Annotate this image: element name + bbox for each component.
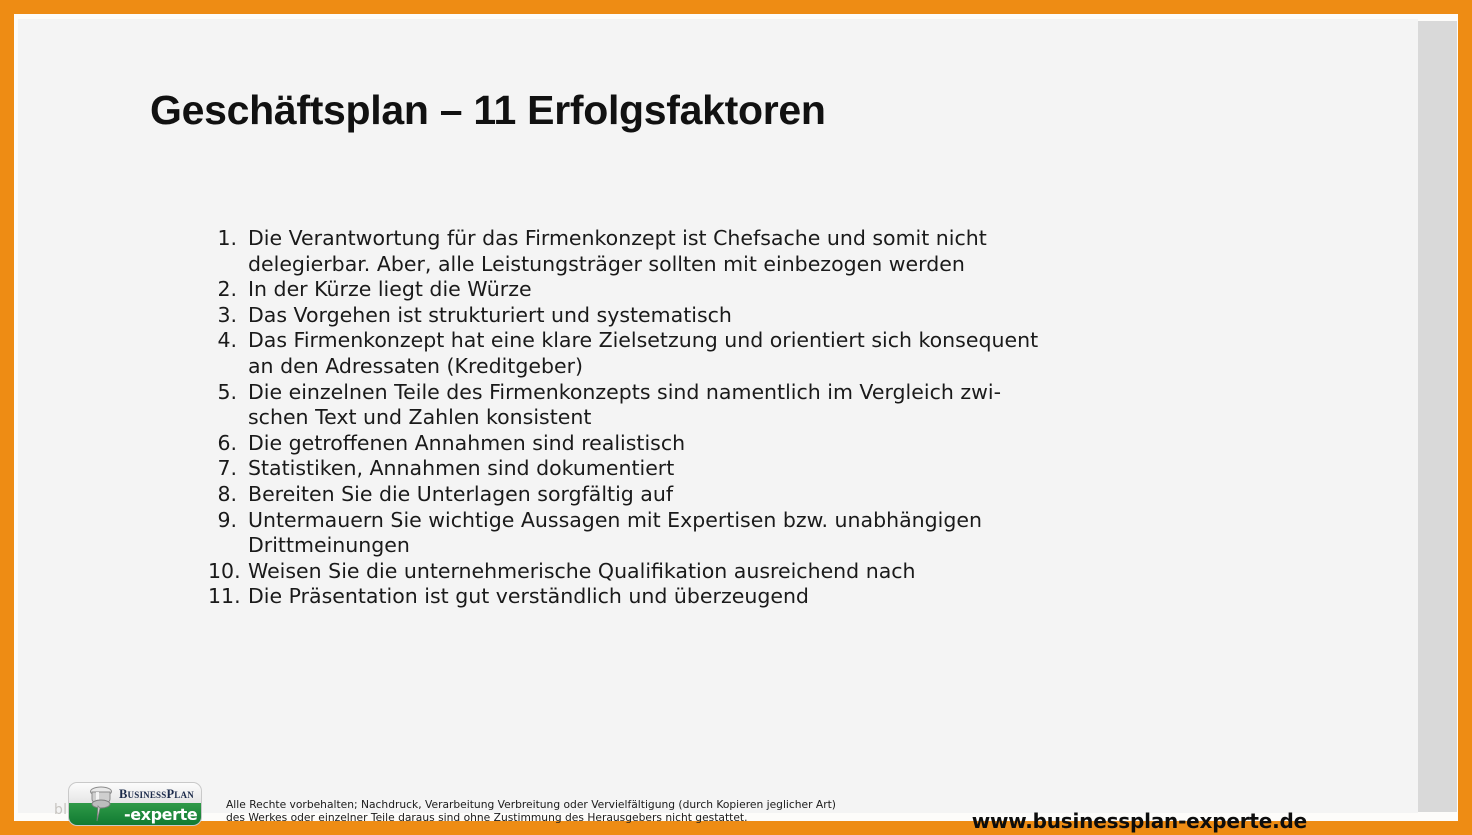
list-item-number: 2. <box>208 277 248 303</box>
list-item: 6. Die getroffenen Annahmen sind realist… <box>208 431 1108 457</box>
list-item-text: Die getroffenen Annahmen sind realistisc… <box>248 431 1108 457</box>
website-url[interactable]: www.businessplan-experte.de <box>972 809 1307 833</box>
list-item: 11. Die Präsentation ist gut verständlic… <box>208 584 1108 610</box>
list-item-text: In der Kürze liegt die Würze <box>248 277 1108 303</box>
list-item-text: Weisen Sie die unternehmerische Qualifik… <box>248 559 1108 585</box>
copyright-notice: Alle Rechte vorbehalten; Nachdruck, Vera… <box>226 798 836 825</box>
list-item-text: Bereiten Sie die Unterlagen sorgfältig a… <box>248 482 1108 508</box>
list-item-text: Untermauern Sie wichtige Aussagen mit Ex… <box>248 508 1108 559</box>
pushpin-icon <box>78 785 122 825</box>
list-item: 4. Das Firmenkonzept hat eine klare Ziel… <box>208 328 1108 379</box>
list-item: 2. In der Kürze liegt die Würze <box>208 277 1108 303</box>
list-item-text: Das Vorgehen ist strukturiert und system… <box>248 303 1108 329</box>
list-item-text: Das Firmenkonzept hat eine klare Zielset… <box>248 328 1108 379</box>
list-item-number: 6. <box>208 431 248 457</box>
list-item: 3. Das Vorgehen ist strukturiert und sys… <box>208 303 1108 329</box>
factor-list: 1. Die Verantwortung für das Firmenkonze… <box>208 226 1108 610</box>
slide-orange-border: Geschäftsplan – 11 Erfolgsfaktoren 1. Di… <box>0 0 1472 835</box>
list-item-number: 7. <box>208 456 248 482</box>
list-item-number: 9. <box>208 508 248 534</box>
list-item-text: Statistiken, Annahmen sind dokumentiert <box>248 456 1108 482</box>
list-item-number: 4. <box>208 328 248 354</box>
slide-canvas: Geschäftsplan – 11 Erfolgsfaktoren 1. Di… <box>18 19 1418 813</box>
list-item-number: 11. <box>208 584 248 610</box>
list-item: 1. Die Verantwortung für das Firmenkonze… <box>208 226 1108 277</box>
list-item-text: Die Präsentation ist gut verständlich un… <box>248 584 1108 610</box>
list-item-number: 10. <box>208 559 248 585</box>
list-item: 9. Untermauern Sie wichtige Aussagen mit… <box>208 508 1108 559</box>
list-item: 7. Statistiken, Annahmen sind dokumentie… <box>208 456 1108 482</box>
businessplan-experte-logo[interactable]: BusinessPlan -experte <box>68 782 202 826</box>
list-item-text: Die Verantwortung für das Firmenkonzept … <box>248 226 1108 277</box>
list-item-number: 8. <box>208 482 248 508</box>
logo-bottom-text: -experte <box>124 805 197 824</box>
page-title: Geschäftsplan – 11 Erfolgsfaktoren <box>150 87 826 134</box>
list-item-number: 5. <box>208 380 248 406</box>
list-item: 10. Weisen Sie die unternehmerische Qual… <box>208 559 1108 585</box>
list-item-number: 3. <box>208 303 248 329</box>
list-item: 8. Bereiten Sie die Unterlagen sorgfälti… <box>208 482 1108 508</box>
list-item: 5. Die einzelnen Teile des Firmenkonzept… <box>208 380 1108 431</box>
logo-top-text: BusinessPlan <box>119 787 194 802</box>
list-item-number: 1. <box>208 226 248 252</box>
list-item-text: Die einzelnen Teile des Firmenkonzepts s… <box>248 380 1108 431</box>
